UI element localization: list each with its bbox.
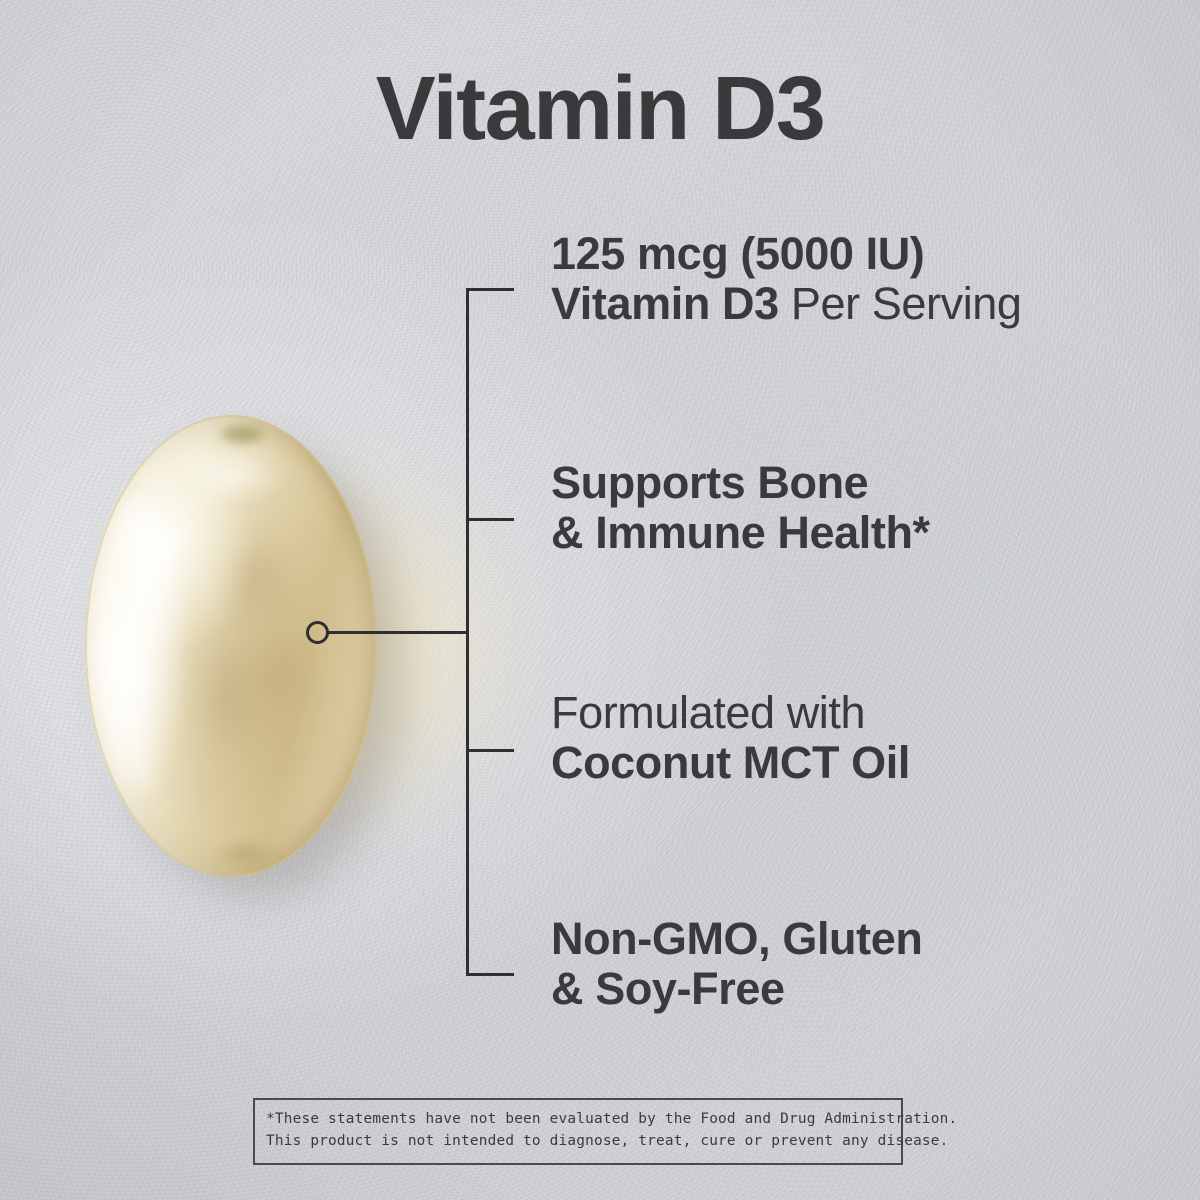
- feature-benefits-line1: Supports Bone: [551, 458, 1171, 508]
- fda-disclaimer-line2: This product is not intended to diagnose…: [266, 1131, 890, 1153]
- feature-formulation-line2: Coconut MCT Oil: [551, 738, 1171, 788]
- feature-dosage: 125 mcg (5000 IU) Vitamin D3 Per Serving: [551, 229, 1171, 330]
- fda-disclaimer-box: *These statements have not been evaluate…: [253, 1098, 903, 1165]
- callout-stem-line: [328, 631, 468, 634]
- callout-spine-line: [466, 288, 469, 976]
- feature-dosage-line2: Vitamin D3 Per Serving: [551, 279, 1171, 329]
- feature-formulation: Formulated with Coconut MCT Oil: [551, 688, 1171, 789]
- callout-arm-2: [466, 518, 514, 521]
- feature-certifications: Non-GMO, Gluten & Soy-Free: [551, 914, 1171, 1015]
- feature-benefits: Supports Bone & Immune Health*: [551, 458, 1171, 559]
- feature-benefits-line2: & Immune Health*: [551, 508, 1171, 558]
- feature-certifications-line2: & Soy-Free: [551, 964, 1171, 1014]
- capsule-rim: [85, 415, 377, 877]
- callout-circle-marker: [306, 621, 329, 644]
- fda-disclaimer-line1: *These statements have not been evaluate…: [266, 1109, 890, 1131]
- feature-formulation-line1: Formulated with: [551, 688, 1171, 738]
- product-infographic: Vitamin D3 125 mcg (5000 IU) Vitamin D3 …: [0, 0, 1200, 1200]
- feature-dosage-line1: 125 mcg (5000 IU): [551, 229, 1171, 279]
- callout-arm-3: [466, 749, 514, 752]
- softgel-capsule-image: [60, 390, 480, 900]
- feature-certifications-line1: Non-GMO, Gluten: [551, 914, 1171, 964]
- callout-arm-4: [466, 973, 514, 976]
- page-title: Vitamin D3: [0, 64, 1200, 154]
- callout-arm-1: [466, 288, 514, 291]
